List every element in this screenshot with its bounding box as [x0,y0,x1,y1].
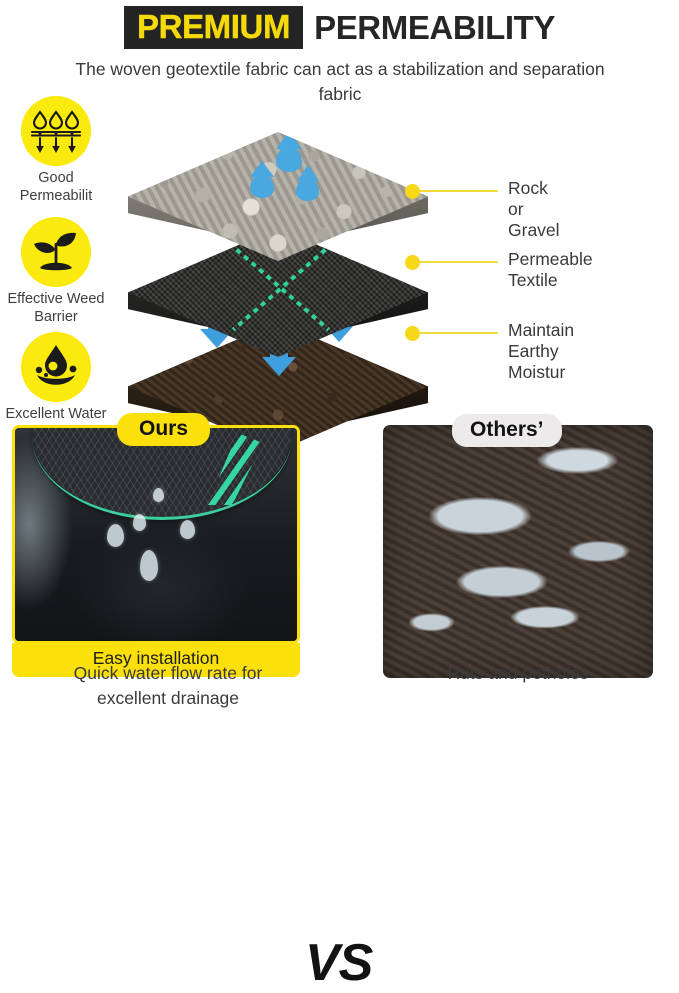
sprout-weed-barrier-icon [21,217,91,287]
gravel-surface [128,132,428,282]
others-caption: Ruts and potholes [383,661,653,686]
leader-line [416,332,498,334]
ours-photo [15,428,297,641]
ours-badge-label: Ours [139,417,188,440]
header: PREMIUM PERMEABILITY [0,4,679,50]
panel-ours: Ours Easy installation Quick water flow … [12,425,300,677]
water-droplet-icon [250,174,274,198]
premium-badge: PREMIUM [124,6,303,49]
leader-line [416,190,498,192]
callout-label: Permeable Textile [508,249,593,291]
others-badge-label: Others’ [470,418,544,441]
callout-label: Maintain Earthy Moistur [508,320,574,383]
ours-photo-frame [12,425,300,644]
callout-label: Rock or Gravel [508,178,560,241]
feature-weed-barrier: Effective Weed Barrier [0,217,112,326]
feature-good-permeability: Good Permeabilit [0,96,112,205]
callout-dot-icon [405,184,420,199]
ours-caption: Quick water flow rate for excellent drai… [22,661,314,711]
water-permeability-icon [21,96,91,166]
feature-label: Effective Weed Barrier [0,291,112,326]
leader-line [416,261,498,263]
water-droplet-absorb-icon [21,332,91,402]
vs-label: VS [305,933,372,993]
layered-soil-diagram [128,132,428,424]
callout-dot-icon [405,326,420,341]
falling-water-droplet [140,550,158,581]
ours-badge: Ours [117,413,210,446]
comparison-section: Ours Easy installation Quick water flow … [0,425,679,714]
rock-gravel-layer [128,132,428,300]
page-title: PERMEABILITY [314,11,555,44]
premium-badge-text: PREMIUM [137,11,290,43]
falling-water-droplet [107,524,124,547]
callout-dot-icon [405,255,420,270]
feature-label: Good Permeabilit [0,170,112,205]
water-droplet-icon [296,178,319,201]
others-badge: Others’ [452,414,562,447]
falling-water-droplet [133,514,146,531]
falling-water-droplet [153,488,164,502]
subtitle: The woven geotextile fabric can act as a… [60,57,620,107]
falling-water-droplet [180,520,195,539]
others-photo-frame [383,425,653,678]
panel-others: Others’ Ruts and potholes [383,425,653,678]
